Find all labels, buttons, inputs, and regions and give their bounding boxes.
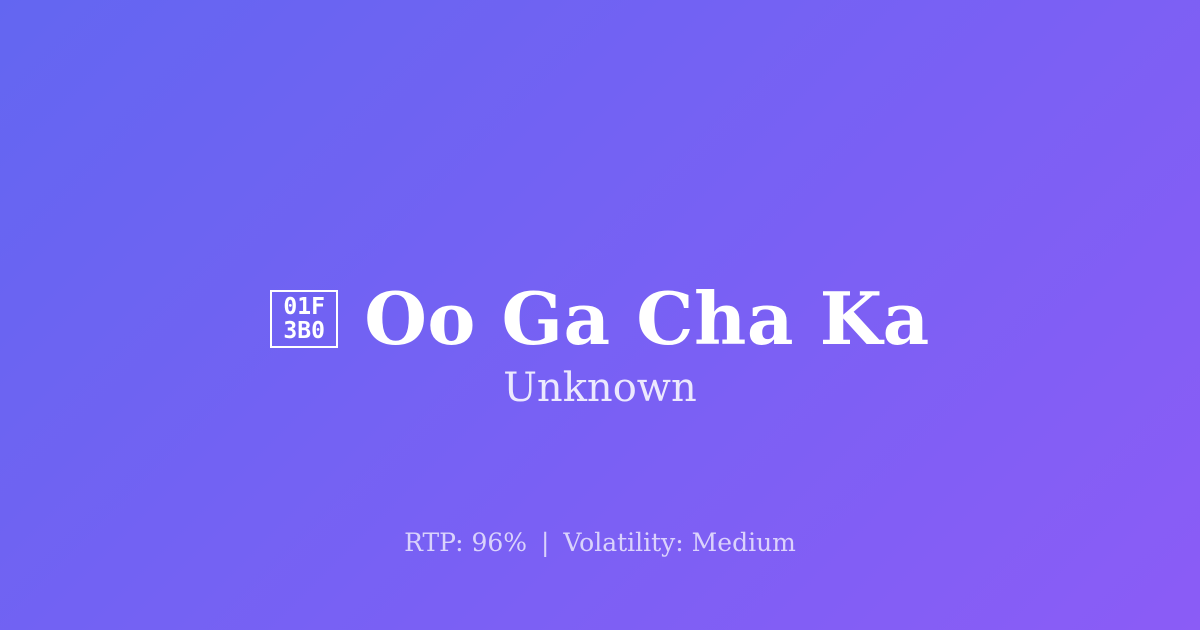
game-share-card: 01F 3B0 Oo Ga Cha Ka Unknown RTP: 96% | … xyxy=(0,0,1200,630)
game-title: Oo Ga Cha Ka xyxy=(364,276,930,362)
tofu-codepoint-line-2: 3B0 xyxy=(283,319,325,343)
stats-separator: | xyxy=(535,528,555,557)
volatility-stat: Volatility: Medium xyxy=(563,528,795,557)
game-stats: RTP: 96% | Volatility: Medium xyxy=(0,526,1200,560)
rtp-stat: RTP: 96% xyxy=(404,528,527,557)
tofu-codepoint-line-1: 01F xyxy=(283,295,325,319)
game-provider: Unknown xyxy=(0,362,1200,414)
slot-machine-icon: 01F 3B0 xyxy=(270,290,338,348)
